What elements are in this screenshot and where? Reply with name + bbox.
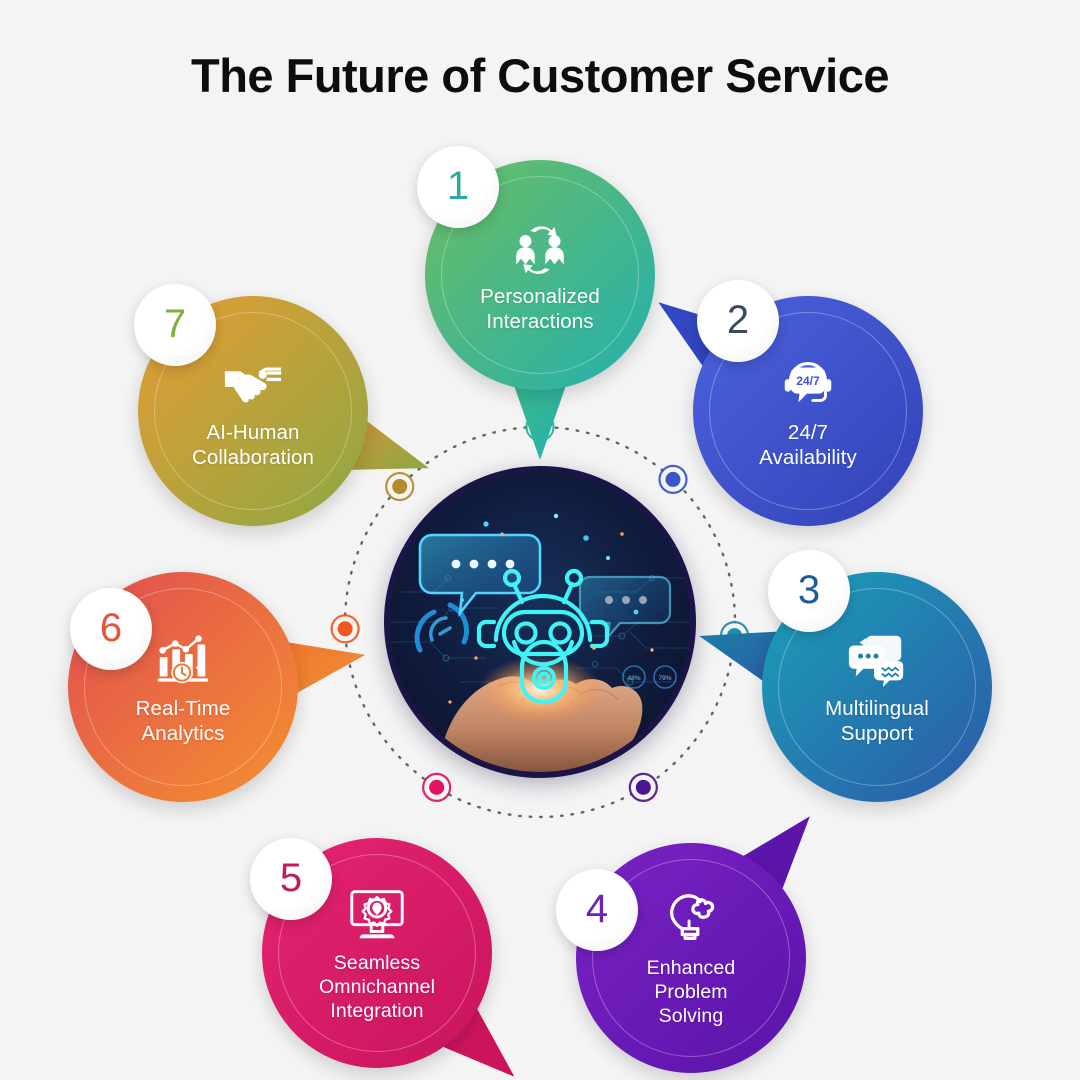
node-6[interactable]: Real-Time Analytics 6	[68, 572, 298, 802]
handshake-icon	[222, 352, 284, 414]
node-number-1: 1	[447, 166, 469, 206]
node-label-4: Enhanced Problem Solving	[647, 956, 736, 1028]
orbit-marker-6	[332, 615, 359, 642]
node-number-5: 5	[280, 858, 302, 898]
node-number-2: 2	[727, 300, 749, 340]
node-2[interactable]: 24/7 24/7 Availability 2	[693, 296, 923, 526]
orbit-marker-7	[386, 473, 413, 500]
ai-chatbot-hologram-icon: 48% 79%	[390, 472, 690, 772]
svg-text:79%: 79%	[658, 675, 671, 682]
node-5[interactable]: Seamless Omnichannel Integration 5	[262, 838, 492, 1068]
node-badge-3[interactable]: 3	[768, 550, 850, 632]
node-label-1: Personalized Interactions	[480, 284, 600, 334]
node-label-3: Multilingual Support	[825, 696, 929, 746]
svg-text:48%: 48%	[627, 675, 640, 682]
node-label-2: 24/7 Availability	[759, 420, 857, 470]
bar-chart-clock-icon	[152, 628, 214, 690]
node-label-7: AI-Human Collaboration	[192, 420, 314, 470]
node-label-5: Seamless Omnichannel Integration	[319, 951, 435, 1023]
node-badge-4[interactable]: 4	[556, 869, 638, 951]
svg-text:24/7: 24/7	[796, 374, 820, 388]
node-badge-7[interactable]: 7	[134, 284, 216, 366]
orbit-marker-4	[630, 774, 657, 801]
lightbulb-puzzle-icon	[660, 888, 722, 950]
people-exchange-icon	[509, 216, 571, 278]
node-number-7: 7	[164, 304, 186, 344]
node-badge-1[interactable]: 1	[417, 146, 499, 228]
node-badge-5[interactable]: 5	[250, 838, 332, 920]
node-number-3: 3	[798, 570, 820, 610]
node-1[interactable]: Personalized Interactions 1	[425, 160, 655, 390]
orbit-marker-2	[659, 466, 686, 493]
node-3[interactable]: Multilingual Support 3	[762, 572, 992, 802]
headset-chat-24-7-icon: 24/7	[777, 352, 839, 414]
chat-bubbles-icon	[846, 628, 908, 690]
page-title: The Future of Customer Service	[0, 48, 1080, 103]
orbit-marker-5	[423, 774, 450, 801]
monitor-gear-icon	[346, 883, 408, 945]
center-hub: 48% 79%	[384, 466, 696, 778]
infographic-canvas: The Future of Customer Service	[0, 0, 1080, 1080]
node-label-6: Real-Time Analytics	[136, 696, 231, 746]
node-number-4: 4	[586, 889, 608, 929]
node-badge-6[interactable]: 6	[70, 588, 152, 670]
node-4[interactable]: Enhanced Problem Solving 4	[576, 843, 806, 1073]
node-badge-2[interactable]: 2	[697, 280, 779, 362]
node-number-6: 6	[100, 608, 122, 648]
node-7[interactable]: AI-Human Collaboration 7	[138, 296, 368, 526]
